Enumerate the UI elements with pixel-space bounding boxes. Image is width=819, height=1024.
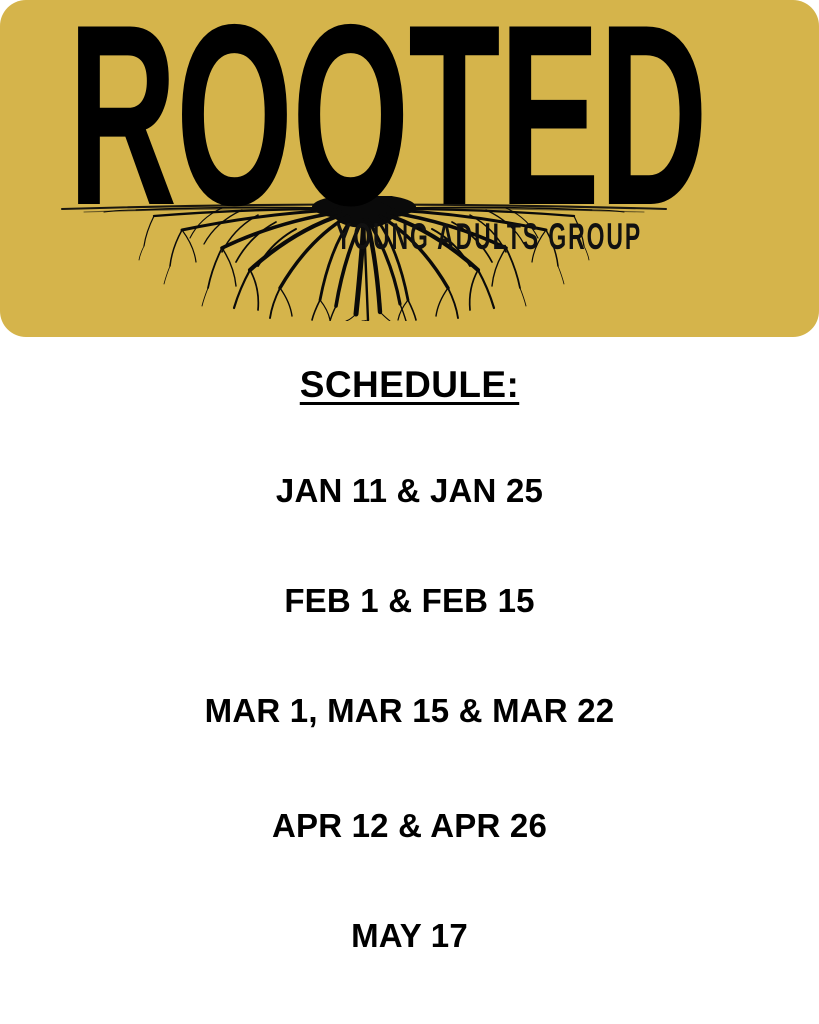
schedule-section: SCHEDULE: JAN 11 & JAN 25 FEB 1 & FEB 15… [0,337,819,1024]
logo-tagline: YOUNG ADULTS GROUP [336,222,642,252]
schedule-date-line: MAY 17 [0,917,819,955]
schedule-date-line: JAN 11 & JAN 25 [0,472,819,510]
schedule-heading: SCHEDULE: [0,364,819,406]
rooted-logo: ROOTED YOUNG ADULTS GROUP [0,0,819,337]
logo-banner: ROOTED YOUNG ADULTS GROUP [0,0,819,337]
schedule-date-line: FEB 1 & FEB 15 [0,582,819,620]
schedule-date-line: APR 12 & APR 26 [0,807,819,845]
schedule-date-line: MAR 1, MAR 15 & MAR 22 [0,692,819,730]
logo-wordmark: ROOTED [68,16,396,214]
